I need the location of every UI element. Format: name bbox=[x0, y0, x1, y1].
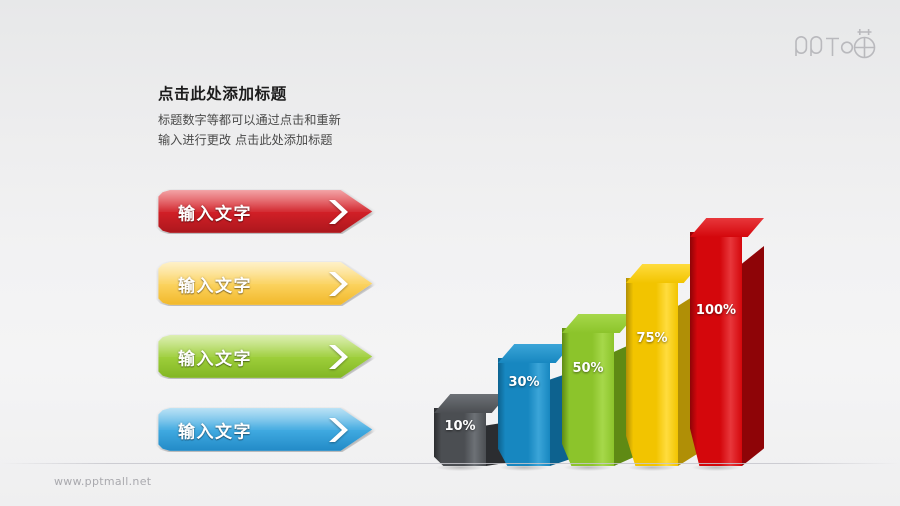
footer-divider bbox=[0, 463, 900, 464]
arrow-button-label: 输入文字 bbox=[178, 344, 252, 369]
arrow-button-border: 输入文字 bbox=[156, 406, 378, 453]
bar-front-face bbox=[690, 232, 742, 466]
chevron-right-icon bbox=[327, 198, 351, 226]
bar-side-face bbox=[742, 246, 764, 466]
footer-url: www.pptmall.net bbox=[54, 475, 151, 488]
chevron-right-icon bbox=[327, 343, 351, 371]
bar-top-face bbox=[690, 218, 764, 237]
bar-50pct: 50% bbox=[562, 328, 614, 466]
bar-front-face bbox=[626, 278, 678, 466]
bar-value-label: 100% bbox=[690, 303, 742, 318]
arrow-button-border: 输入文字 bbox=[156, 333, 378, 380]
bar-75pct: 75% bbox=[626, 278, 678, 466]
subtitle-line-2: 输入进行更改 点击此处添加标题 bbox=[158, 130, 341, 150]
bar-30pct: 30% bbox=[498, 358, 550, 466]
slide-canvas: 点击此处添加标题 标题数字等都可以通过点击和重新 输入进行更改 点击此处添加标题… bbox=[0, 0, 900, 506]
arrow-button-yellow[interactable]: 输入文字 bbox=[156, 260, 378, 307]
page-title: 点击此处添加标题 bbox=[158, 82, 287, 104]
bar-value-label: 30% bbox=[498, 375, 550, 390]
arrow-button-label: 输入文字 bbox=[178, 417, 252, 442]
bar-top-face bbox=[562, 314, 636, 333]
bar-top-face bbox=[626, 264, 700, 283]
arrow-button-blue[interactable]: 输入文字 bbox=[156, 406, 378, 453]
bar-top-face bbox=[498, 344, 572, 363]
bar-10pct: 10% bbox=[434, 408, 486, 466]
page-subtitle: 标题数字等都可以通过点击和重新 输入进行更改 点击此处添加标题 bbox=[158, 110, 341, 150]
chevron-right-icon bbox=[327, 416, 351, 444]
bar-chart-3d: 10%30%50%75%100% bbox=[420, 196, 750, 466]
chevron-right-icon bbox=[327, 270, 351, 298]
bar-100pct: 100% bbox=[690, 232, 742, 466]
bar-value-label: 75% bbox=[626, 331, 678, 346]
subtitle-line-1: 标题数字等都可以通过点击和重新 bbox=[158, 110, 341, 130]
arrow-button-label: 输入文字 bbox=[178, 199, 252, 224]
pptmall-logo bbox=[790, 26, 882, 64]
arrow-button-label: 输入文字 bbox=[178, 271, 252, 296]
bar-value-label: 10% bbox=[434, 419, 486, 434]
bar-front-face bbox=[562, 328, 614, 466]
arrow-button-border: 输入文字 bbox=[156, 188, 378, 235]
bar-front-face bbox=[434, 408, 486, 466]
bar-top-face bbox=[434, 394, 508, 413]
bar-value-label: 50% bbox=[562, 361, 614, 376]
arrow-button-border: 输入文字 bbox=[156, 260, 378, 307]
arrow-button-green[interactable]: 输入文字 bbox=[156, 333, 378, 380]
arrow-button-red[interactable]: 输入文字 bbox=[156, 188, 378, 235]
